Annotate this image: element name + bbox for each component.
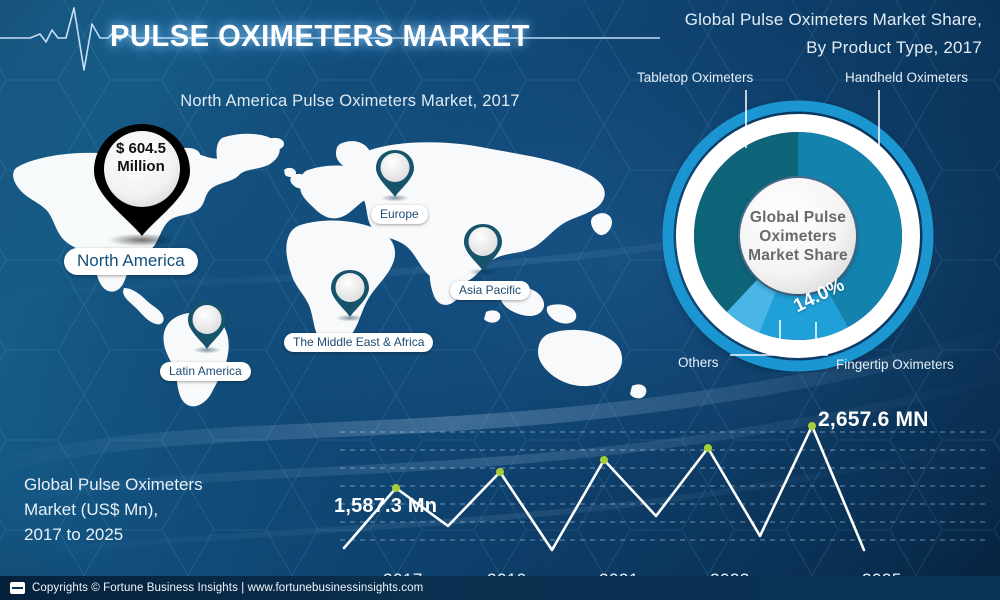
line-chart-title-line-3: 2017 to 2025 (24, 522, 294, 547)
map-pin-icon[interactable] (329, 268, 371, 322)
page-title: PULSE OXIMETERS MARKET (110, 18, 505, 54)
map-pin-icon[interactable] (374, 148, 416, 202)
donut-title-line-1: Global Pulse Oximeters Market Share, (622, 6, 982, 34)
footer-bar: Copyrights © Fortune Business Insights |… (0, 576, 1000, 600)
donut-label-tabletop[interactable]: Tabletop Oximeters (637, 70, 753, 85)
chart-series-line (344, 426, 864, 550)
map-pin-icon[interactable] (462, 222, 504, 276)
donut-leader-lines (630, 60, 1000, 380)
north-america-value-line-1: $ 604.5 (93, 140, 189, 158)
map-label-latin-america[interactable]: Latin America (160, 362, 251, 381)
map-pin-icon[interactable] (88, 118, 196, 248)
map-label-europe[interactable]: Europe (371, 205, 428, 224)
donut-label-others[interactable]: Others (678, 355, 719, 370)
line-chart-title-line-1: Global Pulse Oximeters (24, 472, 294, 497)
map-label-middle-east-africa[interactable]: The Middle East & Africa (284, 333, 433, 352)
donut-label-handheld[interactable]: Handheld Oximeters (845, 70, 968, 85)
footer-copyright-text[interactable]: Copyrights © Fortune Business Insights |… (32, 582, 423, 594)
header-banner: PULSE OXIMETERS MARKET (0, 0, 640, 78)
donut-label-fingertip[interactable]: Fingertip Oximeters (836, 357, 954, 372)
line-chart-title-line-2: Market (US$ Mn), (24, 497, 294, 522)
chart-value-label-start: 1,587.3 Mn (334, 495, 437, 518)
map-subtitle: North America Pulse Oximeters Market, 20… (180, 92, 520, 111)
line-chart-title: Global Pulse Oximeters Market (US$ Mn), … (24, 472, 294, 547)
map-label-north-america[interactable]: North America (64, 248, 198, 275)
copyright-badge-icon (10, 582, 25, 594)
north-america-value: $ 604.5 Million (93, 140, 189, 176)
donut-title-line-2: By Product Type, 2017 (622, 34, 982, 62)
map-pin-icon[interactable] (186, 300, 228, 354)
donut-section-title: Global Pulse Oximeters Market Share, By … (622, 6, 982, 62)
north-america-value-line-2: Million (93, 158, 189, 176)
infographic-canvas: PULSE OXIMETERS MARKET North America Pul… (0, 0, 1000, 600)
map-label-asia-pacific[interactable]: Asia Pacific (450, 281, 530, 300)
chart-gridlines (340, 432, 990, 540)
chart-value-label-end: 2,657.6 MN (818, 408, 929, 432)
